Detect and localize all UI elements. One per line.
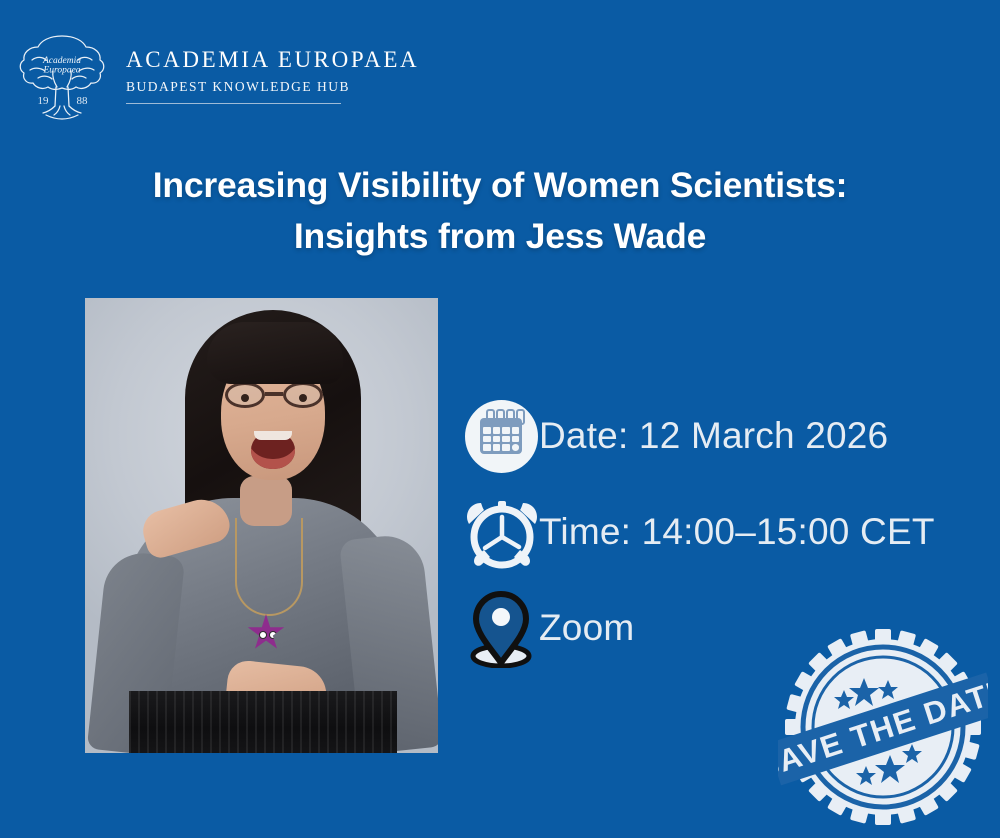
save-the-date-stamp: SAVE THE DATE xyxy=(778,622,988,832)
svg-text:19: 19 xyxy=(38,95,50,107)
calendar-cell xyxy=(493,436,501,443)
svg-text:Academia: Academia xyxy=(42,56,81,66)
alarm-clock-icon xyxy=(462,492,542,572)
photo-pupil-left xyxy=(241,394,249,402)
academia-europaea-logo: Academia Europaea 19 88 ACADEMIA EUROPAE… xyxy=(16,28,366,124)
calendar-cell xyxy=(493,444,501,451)
event-detail-row-date: Date: 12 March 2026 xyxy=(462,388,962,484)
academia-europaea-tree-emblem: Academia Europaea 19 88 xyxy=(16,30,108,122)
event-date-text: Date: 12 March 2026 xyxy=(539,415,888,457)
calendar-cell-highlighted xyxy=(512,444,520,451)
calendar-date-grid xyxy=(483,427,519,451)
calendar-cell xyxy=(512,427,520,434)
photo-pupil-right xyxy=(299,394,307,402)
logo-underline-rule xyxy=(126,103,341,104)
photo-eyeglasses xyxy=(225,382,323,408)
photo-hair-fringe xyxy=(207,322,343,384)
photo-lens-left xyxy=(225,382,265,408)
calendar-cell xyxy=(502,444,510,451)
calendar-cell xyxy=(502,427,510,434)
page-title: Increasing Visibility of Women Scientist… xyxy=(50,160,950,263)
calendar-cell xyxy=(502,436,510,443)
event-location-text: Zoom xyxy=(539,607,634,649)
logo-wordmark-main: ACADEMIA EUROPAEA xyxy=(126,48,419,72)
speaker-photo-image xyxy=(85,298,438,753)
photo-star-eye-left xyxy=(259,631,267,639)
logo-wordmark-subtitle: BUDAPEST KNOWLEDGE HUB xyxy=(126,79,419,95)
calendar-cell xyxy=(493,427,501,434)
speaker-photo xyxy=(85,298,438,753)
photo-glasses-bridge xyxy=(265,392,283,396)
event-detail-row-time: Time: 14:00–15:00 CET xyxy=(462,484,962,580)
calendar-cell xyxy=(483,444,491,451)
page-title-line-1: Increasing Visibility of Women Scientist… xyxy=(50,160,950,211)
photo-necklace-chain xyxy=(235,518,303,616)
save-the-date-poster: Academia Europaea 19 88 ACADEMIA EUROPAE… xyxy=(0,0,1000,838)
svg-text:Europaea: Europaea xyxy=(42,66,80,76)
event-time-text: Time: 14:00–15:00 CET xyxy=(539,511,935,553)
calendar-cell xyxy=(483,436,491,443)
svg-text:88: 88 xyxy=(77,95,89,107)
calendar-icon xyxy=(462,396,542,476)
calendar-cell xyxy=(483,427,491,434)
page-title-line-2: Insights from Jess Wade xyxy=(50,211,950,262)
map-pin-icon xyxy=(462,588,542,668)
photo-lens-right xyxy=(283,382,323,408)
photo-skirt xyxy=(129,691,397,753)
logo-wordmark: ACADEMIA EUROPAEA BUDAPEST KNOWLEDGE HUB xyxy=(122,48,419,104)
calendar-cell xyxy=(512,436,520,443)
photo-teeth xyxy=(254,431,292,440)
